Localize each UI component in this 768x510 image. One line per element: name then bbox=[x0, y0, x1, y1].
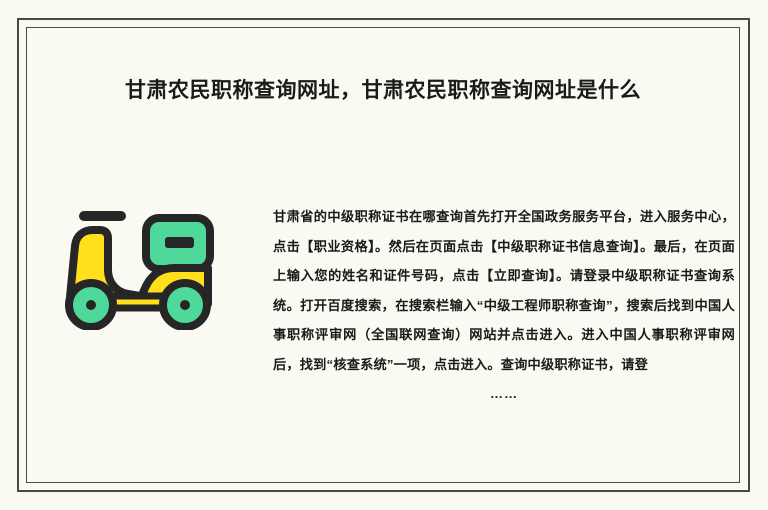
scooter-cargo-box-slot-icon bbox=[165, 237, 194, 248]
article-body-text: 甘肃省的中级职称证书在哪查询首先打开全国政务服务平台，进入服务中心，点击【职业资… bbox=[273, 209, 735, 372]
scooter-rear-hub-icon bbox=[180, 300, 190, 310]
page-title: 甘肃农民职称查询网址，甘肃农民职称查询网址是什么 bbox=[26, 75, 740, 107]
page-root: 甘肃农民职称查询网址，甘肃农民职称查询网址是什么 bbox=[0, 0, 768, 510]
scooter-illustration bbox=[48, 200, 228, 330]
scooter-front-hub-icon bbox=[86, 300, 96, 310]
content-area: 甘肃省的中级职称证书在哪查询首先打开全国政务服务平台，进入服务中心，点击【职业资… bbox=[26, 190, 740, 470]
scooter-handlebar-icon bbox=[79, 211, 126, 221]
article-truncation-ellipsis: …… bbox=[273, 379, 735, 409]
article-body: 甘肃省的中级职称证书在哪查询首先打开全国政务服务平台，进入服务中心，点击【职业资… bbox=[273, 202, 735, 409]
